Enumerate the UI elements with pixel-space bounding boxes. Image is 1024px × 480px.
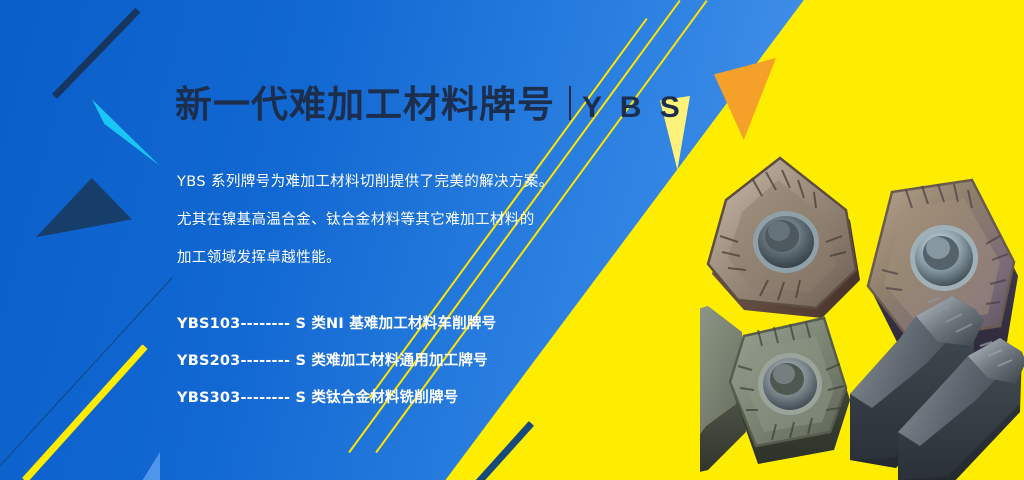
product-image-group xyxy=(700,150,1024,480)
title-separator xyxy=(569,86,571,120)
title-english: Y B S xyxy=(582,91,685,125)
text-content: 新一代难加工材料牌号 Y B S YBS 系列牌号为难加工材料切削提供了完美的解… xyxy=(175,0,655,480)
description-line: YBS 系列牌号为难加工材料切削提供了完美的解决方案。 xyxy=(177,163,597,201)
page-title: 新一代难加工材料牌号 Y B S xyxy=(175,74,685,128)
square-milling-insert xyxy=(730,318,850,464)
description-line: 尤其在镍基高温合金、钛合金材料等其它难加工材料的 xyxy=(177,201,597,239)
model-list: YBS103-------- S 类NI 基难加工材料车削牌号 YBS203--… xyxy=(177,306,496,417)
promo-banner: 新一代难加工材料牌号 Y B S YBS 系列牌号为难加工材料切削提供了完美的解… xyxy=(0,0,1024,480)
trigon-turning-insert xyxy=(708,158,860,318)
model-item-ybs203: YBS203-------- S 类难加工材料通用加工牌号 xyxy=(177,343,496,380)
description-line: 加工领域发挥卓越性能。 xyxy=(177,239,597,277)
title-chinese: 新一代难加工材料牌号 xyxy=(175,74,555,128)
model-item-ybs103: YBS103-------- S 类NI 基难加工材料车削牌号 xyxy=(177,306,496,343)
description-block: YBS 系列牌号为难加工材料切削提供了完美的解决方案。 尤其在镍基高温合金、钛合… xyxy=(177,163,597,277)
model-item-ybs303: YBS303-------- S 类钛合金材料铣削牌号 xyxy=(177,380,496,417)
inserts-illustration xyxy=(700,150,1024,480)
